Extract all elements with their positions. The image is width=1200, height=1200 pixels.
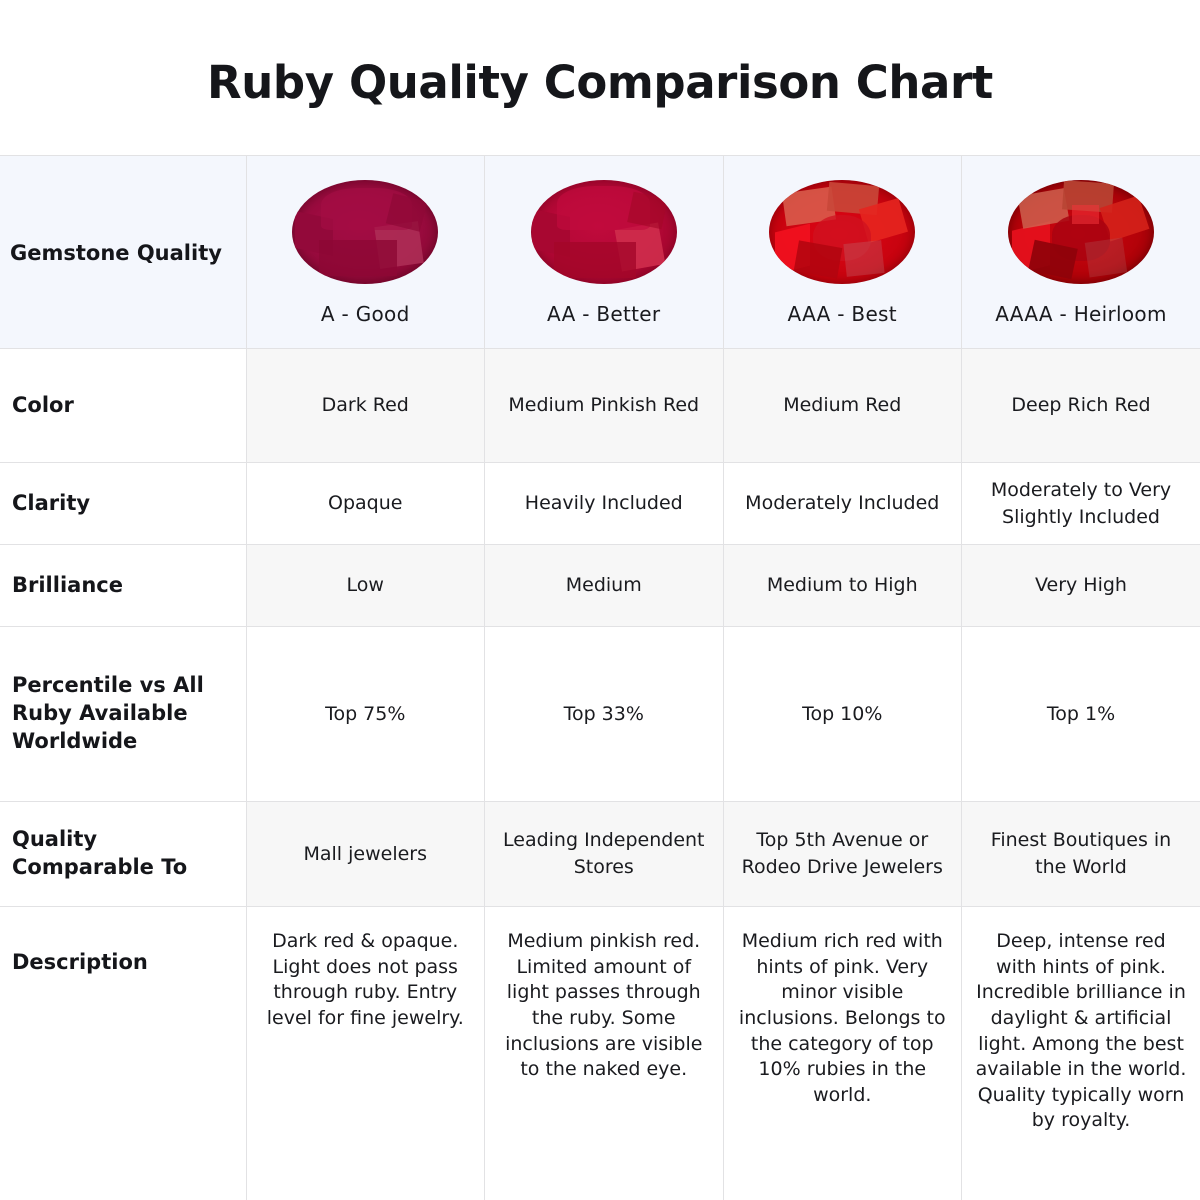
cell-clarity-aaaa: Moderately to Very Slightly Included bbox=[962, 463, 1200, 545]
cell-quality-comparable-aaaa: Finest Boutiques in the World bbox=[962, 802, 1200, 907]
cell-description-a: Dark red & opaque. Light does not pass t… bbox=[246, 907, 485, 1200]
ruby-quality-comparison-table: Gemstone Quality A - Good bbox=[0, 155, 1200, 1200]
cell-brilliance-aa: Medium bbox=[485, 545, 724, 627]
cell-color-aaaa: Deep Rich Red bbox=[962, 349, 1200, 463]
description-text-aa: Medium pinkish red. Limited amount of li… bbox=[497, 929, 711, 1083]
row-label-quality-comparable-to: Quality Comparable To bbox=[0, 802, 246, 907]
cell-percentile-aaa: Top 10% bbox=[723, 627, 962, 802]
cell-clarity-aa: Heavily Included bbox=[485, 463, 724, 545]
description-text-aaaa: Deep, intense red with hints of pink. In… bbox=[974, 929, 1188, 1134]
description-text-a: Dark red & opaque. Light does not pass t… bbox=[259, 929, 473, 1032]
cell-quality-comparable-a: Mall jewelers bbox=[246, 802, 485, 907]
table-row-brilliance: Brilliance Low Medium Medium to High Ver… bbox=[0, 545, 1200, 627]
row-label-percentile: Percentile vs All Ruby Available Worldwi… bbox=[0, 627, 246, 802]
cell-clarity-aaa: Moderately Included bbox=[723, 463, 962, 545]
cell-description-aaa: Medium rich red with hints of pink. Very… bbox=[723, 907, 962, 1200]
grade-label-aaa: AAA - Best bbox=[788, 300, 897, 328]
cell-clarity-a: Opaque bbox=[246, 463, 485, 545]
table-row-percentile: Percentile vs All Ruby Available Worldwi… bbox=[0, 627, 1200, 802]
cell-brilliance-aaaa: Very High bbox=[962, 545, 1200, 627]
cell-percentile-aaaa: Top 1% bbox=[962, 627, 1200, 802]
ruby-oval-gem-icon-aaaa bbox=[1008, 180, 1154, 284]
cell-quality-comparable-aa: Leading Independent Stores bbox=[485, 802, 724, 907]
cell-description-aaaa: Deep, intense red with hints of pink. In… bbox=[962, 907, 1200, 1200]
cell-color-aa: Medium Pinkish Red bbox=[485, 349, 724, 463]
cell-percentile-a: Top 75% bbox=[246, 627, 485, 802]
title-bar: Ruby Quality Comparison Chart bbox=[0, 0, 1200, 155]
row-label-color: Color bbox=[0, 349, 246, 463]
cell-gemstone-quality-a: A - Good bbox=[246, 156, 485, 349]
table-row-clarity: Clarity Opaque Heavily Included Moderate… bbox=[0, 463, 1200, 545]
cell-color-aaa: Medium Red bbox=[723, 349, 962, 463]
row-label-brilliance: Brilliance bbox=[0, 545, 246, 627]
cell-brilliance-aaa: Medium to High bbox=[723, 545, 962, 627]
ruby-quality-comparison-page: Ruby Quality Comparison Chart Gemstone Q… bbox=[0, 0, 1200, 1200]
cell-color-a: Dark Red bbox=[246, 349, 485, 463]
description-text-aaa: Medium rich red with hints of pink. Very… bbox=[736, 929, 950, 1108]
row-label-description: Description bbox=[0, 907, 246, 1200]
ruby-oval-gem-icon-aa bbox=[531, 180, 677, 284]
cell-gemstone-quality-aa: AA - Better bbox=[485, 156, 724, 349]
table-row-color: Color Dark Red Medium Pinkish Red Medium… bbox=[0, 349, 1200, 463]
row-label-clarity: Clarity bbox=[0, 463, 246, 545]
cell-gemstone-quality-aaaa: AAAA - Heirloom bbox=[962, 156, 1200, 349]
table-row-quality-comparable-to: Quality Comparable To Mall jewelers Lead… bbox=[0, 802, 1200, 907]
cell-gemstone-quality-aaa: AAA - Best bbox=[723, 156, 962, 349]
grade-label-a: A - Good bbox=[321, 300, 410, 328]
ruby-oval-gem-icon-aaa bbox=[769, 180, 915, 284]
grade-label-aa: AA - Better bbox=[547, 300, 660, 328]
cell-percentile-aa: Top 33% bbox=[485, 627, 724, 802]
cell-brilliance-a: Low bbox=[246, 545, 485, 627]
page-title: Ruby Quality Comparison Chart bbox=[207, 50, 993, 105]
grade-label-aaaa: AAAA - Heirloom bbox=[995, 300, 1166, 328]
cell-quality-comparable-aaa: Top 5th Avenue or Rodeo Drive Jewelers bbox=[723, 802, 962, 907]
ruby-oval-gem-icon-a bbox=[292, 180, 438, 284]
table-row-description: Description Dark red & opaque. Light doe… bbox=[0, 907, 1200, 1200]
cell-description-aa: Medium pinkish red. Limited amount of li… bbox=[485, 907, 724, 1200]
table-row-gemstone-quality: Gemstone Quality A - Good bbox=[0, 156, 1200, 349]
row-label-gemstone-quality: Gemstone Quality bbox=[0, 156, 246, 349]
